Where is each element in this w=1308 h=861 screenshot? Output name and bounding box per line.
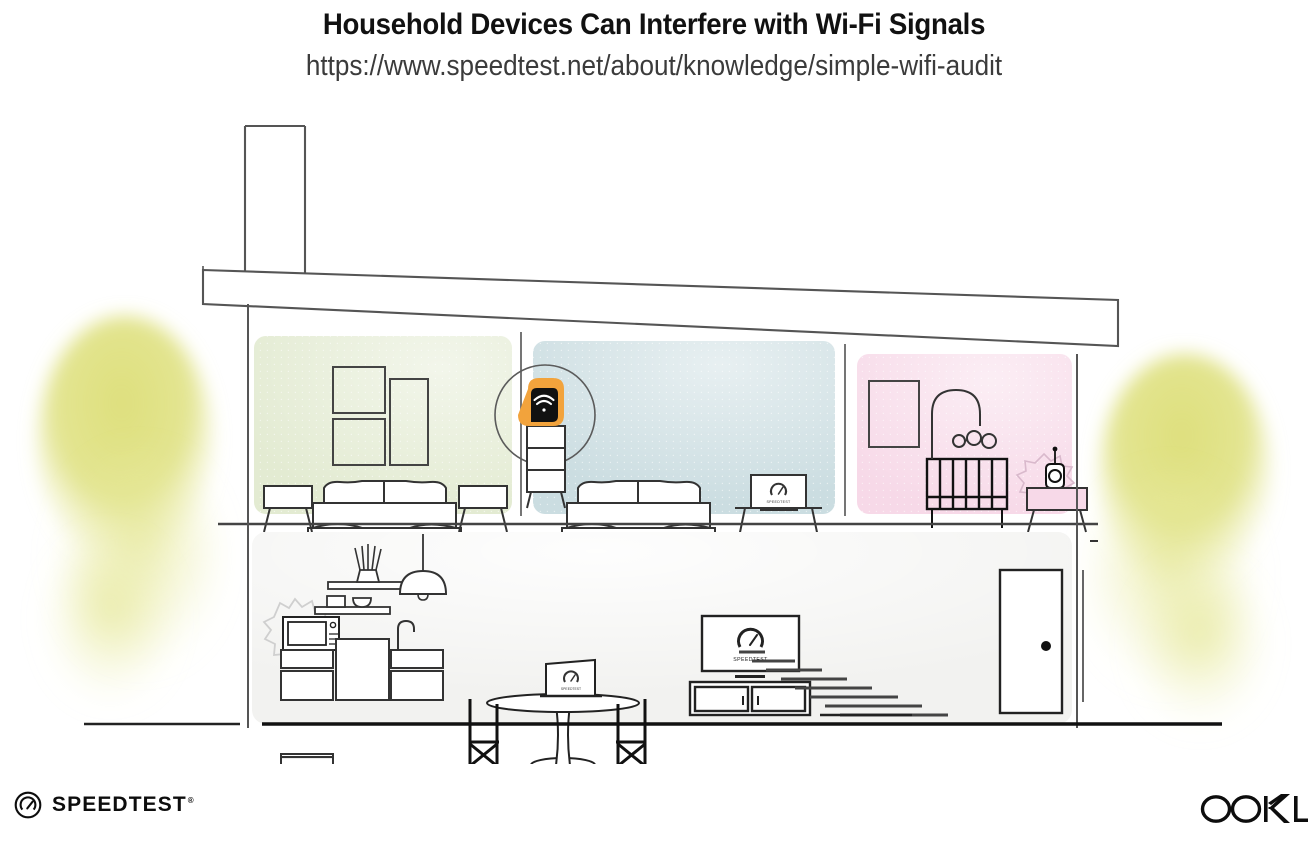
laptop-dining-label: SPEEDTEST	[561, 687, 581, 691]
tree-right	[1090, 354, 1271, 727]
ookla-wordmark	[1198, 787, 1308, 831]
speedtest-gauge-icon	[14, 791, 42, 819]
chimney	[245, 126, 305, 280]
speedtest-logo[interactable]: SPEEDTEST®	[14, 791, 195, 819]
header: Household Devices Can Interfere with Wi-…	[0, 0, 1308, 83]
page-url: https://www.speedtest.net/about/knowledg…	[65, 50, 1242, 83]
door-knob-icon[interactable]	[1041, 641, 1051, 651]
house-illustration: SPEEDTEST	[0, 104, 1308, 764]
wifi-router[interactable]	[518, 378, 564, 426]
speedtest-trademark: ®	[188, 796, 195, 805]
footer: SPEEDTEST®	[0, 769, 1308, 861]
media-console	[690, 682, 810, 715]
speedtest-wordmark: SPEEDTEST®	[52, 793, 195, 817]
laptop-bedroom: SPEEDTEST	[751, 475, 806, 511]
tree-left	[37, 316, 218, 704]
ookla-logo[interactable]	[1198, 787, 1308, 831]
speedtest-wordmark-text: SPEEDTEST	[52, 793, 187, 816]
dining-table	[487, 694, 639, 764]
laptop-dining: SPEEDTEST	[540, 660, 602, 696]
page-title: Household Devices Can Interfere with Wi-…	[52, 8, 1255, 42]
laptop-screen-label: SPEEDTEST	[766, 500, 791, 504]
microwave	[283, 617, 339, 650]
front-door-main[interactable]	[1000, 570, 1062, 713]
slanted-flat-roof	[203, 266, 1118, 346]
